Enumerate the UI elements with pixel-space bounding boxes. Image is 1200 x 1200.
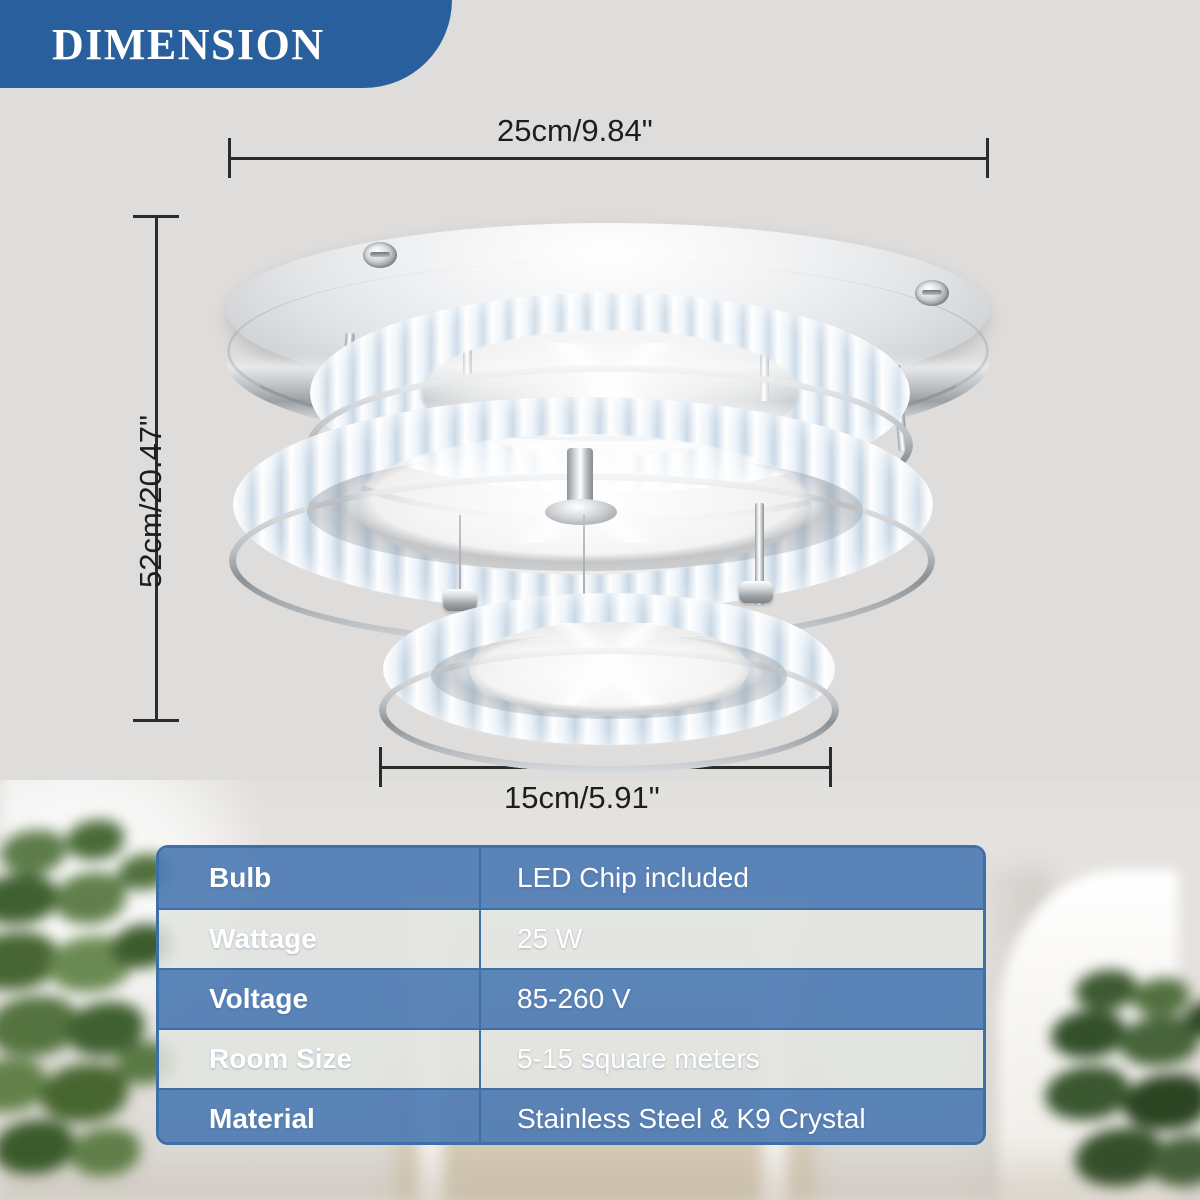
dimension-label-top-width: 25cm/9.84" xyxy=(497,113,653,149)
spec-key-voltage: Voltage xyxy=(159,970,481,1028)
spec-key-bulb: Bulb xyxy=(159,848,481,908)
spec-value-material: Stainless Steel & K9 Crystal xyxy=(481,1090,983,1145)
dimension-cap-left-bottom xyxy=(133,719,179,722)
dimension-label-bottom-width: 15cm/5.91" xyxy=(504,780,660,816)
table-row: Material Stainless Steel & K9 Crystal xyxy=(159,1088,983,1145)
dimension-cap-top-right xyxy=(986,138,989,178)
spec-value-wattage: 25 W xyxy=(481,910,983,968)
dimension-line-top xyxy=(228,157,988,160)
dimension-label-left-height: 52cm/20.47" xyxy=(133,415,169,588)
dimension-cap-bottom-left xyxy=(379,747,382,787)
spec-key-wattage: Wattage xyxy=(159,910,481,968)
plant-right xyxy=(1045,970,1200,1200)
spec-key-room-size: Room Size xyxy=(159,1030,481,1088)
table-row: Wattage 25 W xyxy=(159,908,983,968)
lower-ring-connector-right xyxy=(739,581,773,603)
lower-ring-inner-surface xyxy=(431,633,787,719)
banner-title: DIMENSION xyxy=(52,19,325,70)
specification-table: Bulb LED Chip included Wattage 25 W Volt… xyxy=(156,845,986,1145)
table-row: Room Size 5-15 square meters xyxy=(159,1028,983,1088)
dimension-banner: DIMENSION xyxy=(0,0,452,88)
dimension-cap-bottom-right xyxy=(829,747,832,787)
spec-value-room-size: 5-15 square meters xyxy=(481,1030,983,1088)
table-row: Voltage 85-260 V xyxy=(159,968,983,1028)
spec-value-bulb: LED Chip included xyxy=(481,848,983,908)
center-hub-cap xyxy=(545,499,617,525)
mounting-screw-left xyxy=(363,242,397,268)
spec-value-voltage: 85-260 V xyxy=(481,970,983,1028)
table-row: Bulb LED Chip included xyxy=(159,848,983,908)
infographic-canvas: DIMENSION 25cm/9.84" 52cm/20.47" 15cm/5.… xyxy=(0,0,1200,1200)
dimension-cap-left-top xyxy=(133,215,179,218)
spec-key-material: Material xyxy=(159,1090,481,1145)
dimension-cap-top-left xyxy=(228,138,231,178)
product-image-crystal-ceiling-light xyxy=(215,215,1005,735)
mounting-screw-right xyxy=(915,280,949,306)
